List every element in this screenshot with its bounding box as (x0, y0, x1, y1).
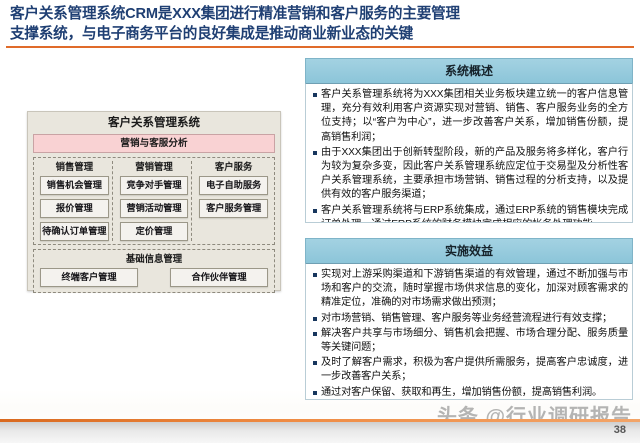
diagram-title: 客户关系管理系统 (33, 116, 275, 131)
panel-implementation-benefits: 实施效益 实现对上游采购渠道和下游销售渠道的有效管理，通过不断加强与市场和客户的… (305, 238, 633, 400)
panel-body: 实现对上游采购渠道和下游销售渠道的有效管理，通过不断加强与市场和客户的交流，随时… (305, 263, 633, 400)
column-title: 客户服务 (199, 161, 268, 173)
bullet-square-icon (313, 361, 317, 365)
bullet-text: 实现对上游采购渠道和下游销售渠道的有效管理，通过不断加强与市场和客户的交流，随时… (321, 268, 628, 311)
page-number: 38 (614, 424, 626, 436)
panel-header: 系统概述 (305, 58, 633, 83)
slide-canvas: 客户关系管理系统CRM是XXX集团进行精准营销和客户服务的主要管理 支撑系统，与… (0, 0, 640, 443)
diagram-node[interactable]: 待确认订单管理 (40, 222, 109, 241)
diagram-node[interactable]: 定价管理 (120, 222, 189, 241)
panel-body: 客户关系管理系统将为XXX集团相关业务板块建立统一的客户信息管理，充分有效利用客… (305, 83, 633, 223)
diagram-node[interactable]: 营销活动管理 (120, 199, 189, 218)
bullet-item: 由于XXX集团出于创新转型阶段，新的产品及服务将多样化，客户行为较为复杂多变，因… (312, 146, 628, 203)
bullet-text: 解决客户共享与市场细分、销售机会把握、市场合理分配、服务质量等关键问题； (321, 327, 628, 355)
page-title: 客户关系管理系统CRM是XXX集团进行精准营销和客户服务的主要管理 支撑系统，与… (10, 4, 630, 44)
bullet-square-icon (313, 151, 317, 155)
bullet-square-icon (313, 317, 317, 321)
column-title: 销售管理 (40, 161, 109, 173)
bullet-text: 对市场营销、销售管理、客户服务等业务经营流程进行有效支撑； (321, 312, 612, 326)
diagram-node-spacer (199, 222, 268, 239)
bullet-item: 对市场营销、销售管理、客户服务等业务经营流程进行有效支撑； (312, 312, 628, 326)
bullet-square-icon (313, 332, 317, 336)
diagram-column-marketing: 营销管理 竞争对手管理 营销活动管理 定价管理 (117, 161, 193, 241)
bullet-text: 通过对客户保留、获取和再生，增加销售份额，提高销售利润。 (321, 386, 602, 400)
column-title: 营销管理 (120, 161, 189, 173)
diagram-node[interactable]: 竞争对手管理 (120, 176, 189, 195)
diagram-node[interactable]: 电子自助服务 (199, 176, 268, 195)
panel-system-overview: 系统概述 客户关系管理系统将为XXX集团相关业务板块建立统一的客户信息管理，充分… (305, 58, 633, 223)
diagram-node[interactable]: 报价管理 (40, 199, 109, 218)
diagram-column-sales: 销售管理 销售机会管理 报价管理 待确认订单管理 (37, 161, 113, 241)
bullet-item: 实现对上游采购渠道和下游销售渠道的有效管理，通过不断加强与市场和客户的交流，随时… (312, 268, 628, 311)
bullet-item: 客户关系管理系统将与ERP系统集成，通过ERP系统的销售模块完成订单处理、通过E… (312, 204, 628, 223)
bullet-square-icon (313, 209, 317, 213)
crm-architecture-diagram: 客户关系管理系统 营销与客服分析 销售管理 销售机会管理 报价管理 待确认订单管… (27, 111, 281, 291)
diagram-node[interactable]: 终端客户管理 (40, 268, 138, 287)
base-section-title: 基础信息管理 (40, 253, 268, 265)
bullet-text: 客户关系管理系统将为XXX集团相关业务板块建立统一的客户信息管理，充分有效利用客… (321, 88, 628, 145)
diagram-node[interactable]: 客户服务管理 (199, 199, 268, 218)
diagram-columns: 销售管理 销售机会管理 报价管理 待确认订单管理 营销管理 竞争对手管理 营销活… (33, 157, 275, 245)
diagram-node[interactable]: 销售机会管理 (40, 176, 109, 195)
bullet-item: 解决客户共享与市场细分、销售机会把握、市场合理分配、服务质量等关键问题； (312, 327, 628, 355)
diagram-column-service: 客户服务 电子自助服务 客户服务管理 (196, 161, 271, 241)
bullet-text: 客户关系管理系统将与ERP系统集成，通过ERP系统的销售模块完成订单处理、通过E… (321, 204, 628, 223)
bullet-item: 通过对客户保留、获取和再生，增加销售份额，提高销售利润。 (312, 386, 628, 400)
bullet-text: 由于XXX集团出于创新转型阶段，新的产品及服务将多样化，客户行为较为复杂多变，因… (321, 146, 628, 203)
panel-header: 实施效益 (305, 238, 633, 263)
bullet-item: 客户关系管理系统将为XXX集团相关业务板块建立统一的客户信息管理，充分有效利用客… (312, 88, 628, 145)
bottom-gray-band (0, 422, 640, 443)
bullet-text: 及时了解客户需求，积极为客户提供所需服务，提高客户忠诚度，进一步改善客户关系； (321, 356, 628, 384)
diagram-node[interactable]: 合作伙伴管理 (170, 268, 268, 287)
diagram-base-section: 基础信息管理 终端客户管理 合作伙伴管理 (33, 249, 275, 293)
title-line-2: 支撑系统，与电子商务平台的良好集成是推动商业新业态的关键 (10, 24, 630, 44)
title-line-1: 客户关系管理系统CRM是XXX集团进行精准营销和客户服务的主要管理 (10, 4, 630, 24)
title-divider (6, 46, 634, 48)
analysis-layer-bar: 营销与客服分析 (33, 134, 275, 153)
base-section-nodes: 终端客户管理 合作伙伴管理 (40, 268, 268, 287)
bullet-item: 及时了解客户需求，积极为客户提供所需服务，提高客户忠诚度，进一步改善客户关系； (312, 356, 628, 384)
bullet-square-icon (313, 391, 317, 395)
bullet-square-icon (313, 273, 317, 277)
bullet-square-icon (313, 93, 317, 97)
